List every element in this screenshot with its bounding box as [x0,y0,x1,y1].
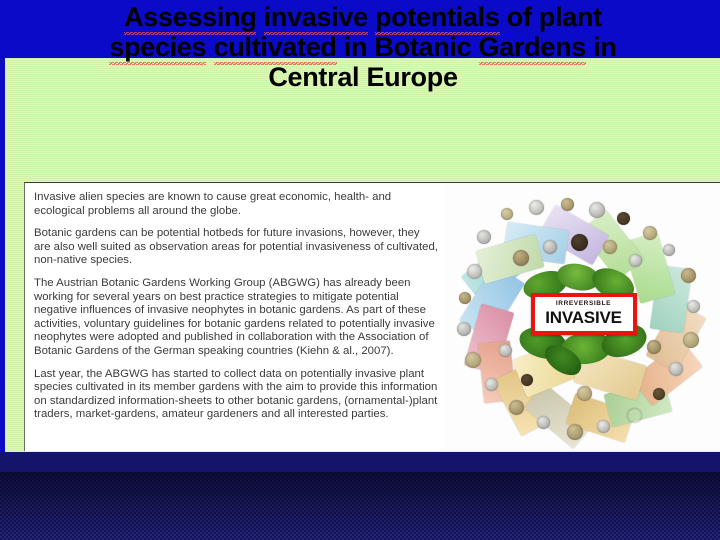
title-space [368,2,375,32]
coin [509,400,524,415]
coin [529,200,544,215]
coin [513,250,529,266]
coin [681,268,696,283]
presentation-slide: Assessing invasive potentials of plant s… [0,0,720,540]
coin [629,254,642,267]
title-text-in-botanic: in Botanic [337,32,479,62]
coin [643,226,657,240]
coin [561,198,574,211]
coin [571,234,588,251]
coin [603,240,617,254]
coin [653,388,665,400]
coin [647,340,661,354]
title-word-species: species [109,32,206,66]
paragraph-4: Last year, the ABGWG has started to coll… [34,368,438,422]
coin [683,332,699,348]
body-text-column: Invasive alien species are known to caus… [34,191,438,431]
coin [457,322,471,336]
coin [537,416,550,429]
coin [465,352,481,368]
title-space [256,2,263,32]
left-edge-strip [0,58,5,452]
coin [501,208,513,220]
title-word-gardens: Gardens [479,32,586,66]
coin [567,424,583,440]
title-text-of-plant: of plant [500,2,602,32]
bottom-gradient-band [0,472,720,540]
coin [485,378,498,391]
title-text-in: in [586,32,617,62]
invasive-warning-label: IRREVERSIBLE INVASIVE [531,293,637,335]
paragraph-2: Botanic gardens can be potential hotbeds… [34,227,438,268]
coin [627,408,642,423]
coin [669,362,683,376]
title-word-potentials: potentials [375,2,500,36]
title-line-2: species cultivated in Botanic Gardens in [18,32,708,62]
coin [617,212,630,225]
coin [477,230,491,244]
label-line-irreversible: IRREVERSIBLE [535,300,633,308]
coin [499,344,512,357]
coin [589,202,605,218]
coin [663,244,675,256]
title-line-1: Assessing invasive potentials of plant [18,2,708,32]
page-title: Assessing invasive potentials of plant s… [18,2,708,92]
title-word-invasive: invasive [264,2,368,36]
coin [543,240,557,254]
photo-collage: IRREVERSIBLE INVASIVE [457,196,709,440]
title-word-assessing: Assessing [124,2,256,36]
coin [577,386,592,401]
label-line-invasive: INVASIVE [535,308,633,328]
title-line-3: Central Europe [18,62,708,92]
content-panel: Invasive alien species are known to caus… [24,182,720,451]
paragraph-1: Invasive alien species are known to caus… [34,191,438,218]
paragraph-3: The Austrian Botanic Gardens Working Gro… [34,277,438,359]
money-and-plants-photo: IRREVERSIBLE INVASIVE [445,183,720,451]
coin [597,420,610,433]
title-space [206,32,213,62]
coin [467,264,482,279]
title-word-cultivated: cultivated [214,32,337,66]
coin [459,292,471,304]
coin [521,374,533,386]
coin [687,300,700,313]
bottom-navy-band [0,452,720,472]
